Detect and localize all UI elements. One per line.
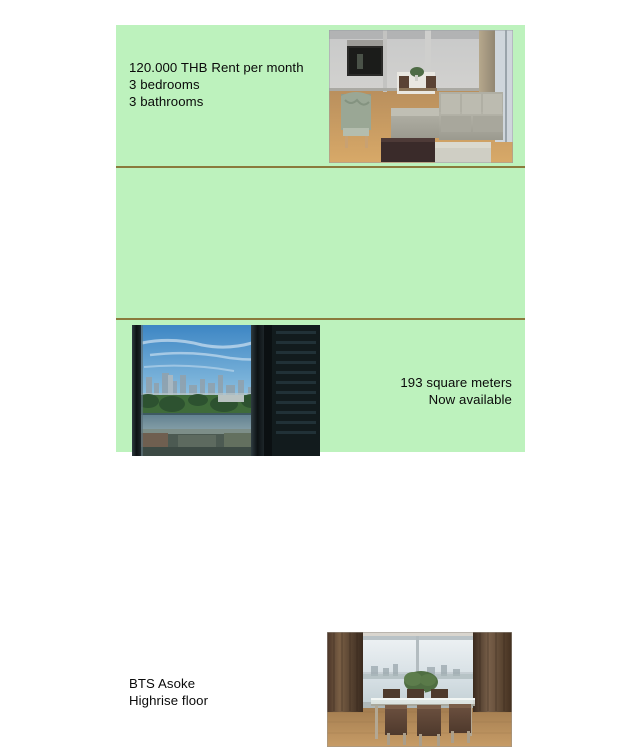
dining-room-photo bbox=[327, 632, 512, 747]
property-listing-slide: 120.000 THB Rent per month 3 bedrooms 3 … bbox=[116, 25, 525, 452]
caption-location-and-floor: BTS Asoke Highrise floor bbox=[129, 675, 208, 709]
panel-location-and-floor: BTS Asoke Highrise floor bbox=[116, 320, 525, 452]
caption-price-and-rooms: 120.000 THB Rent per month 3 bedrooms 3 … bbox=[129, 59, 304, 111]
panel-price-and-rooms: 120.000 THB Rent per month 3 bedrooms 3 … bbox=[116, 25, 525, 166]
living-room-photo bbox=[329, 30, 513, 163]
panel-size-and-availability: 193 square meters Now available bbox=[116, 168, 525, 318]
